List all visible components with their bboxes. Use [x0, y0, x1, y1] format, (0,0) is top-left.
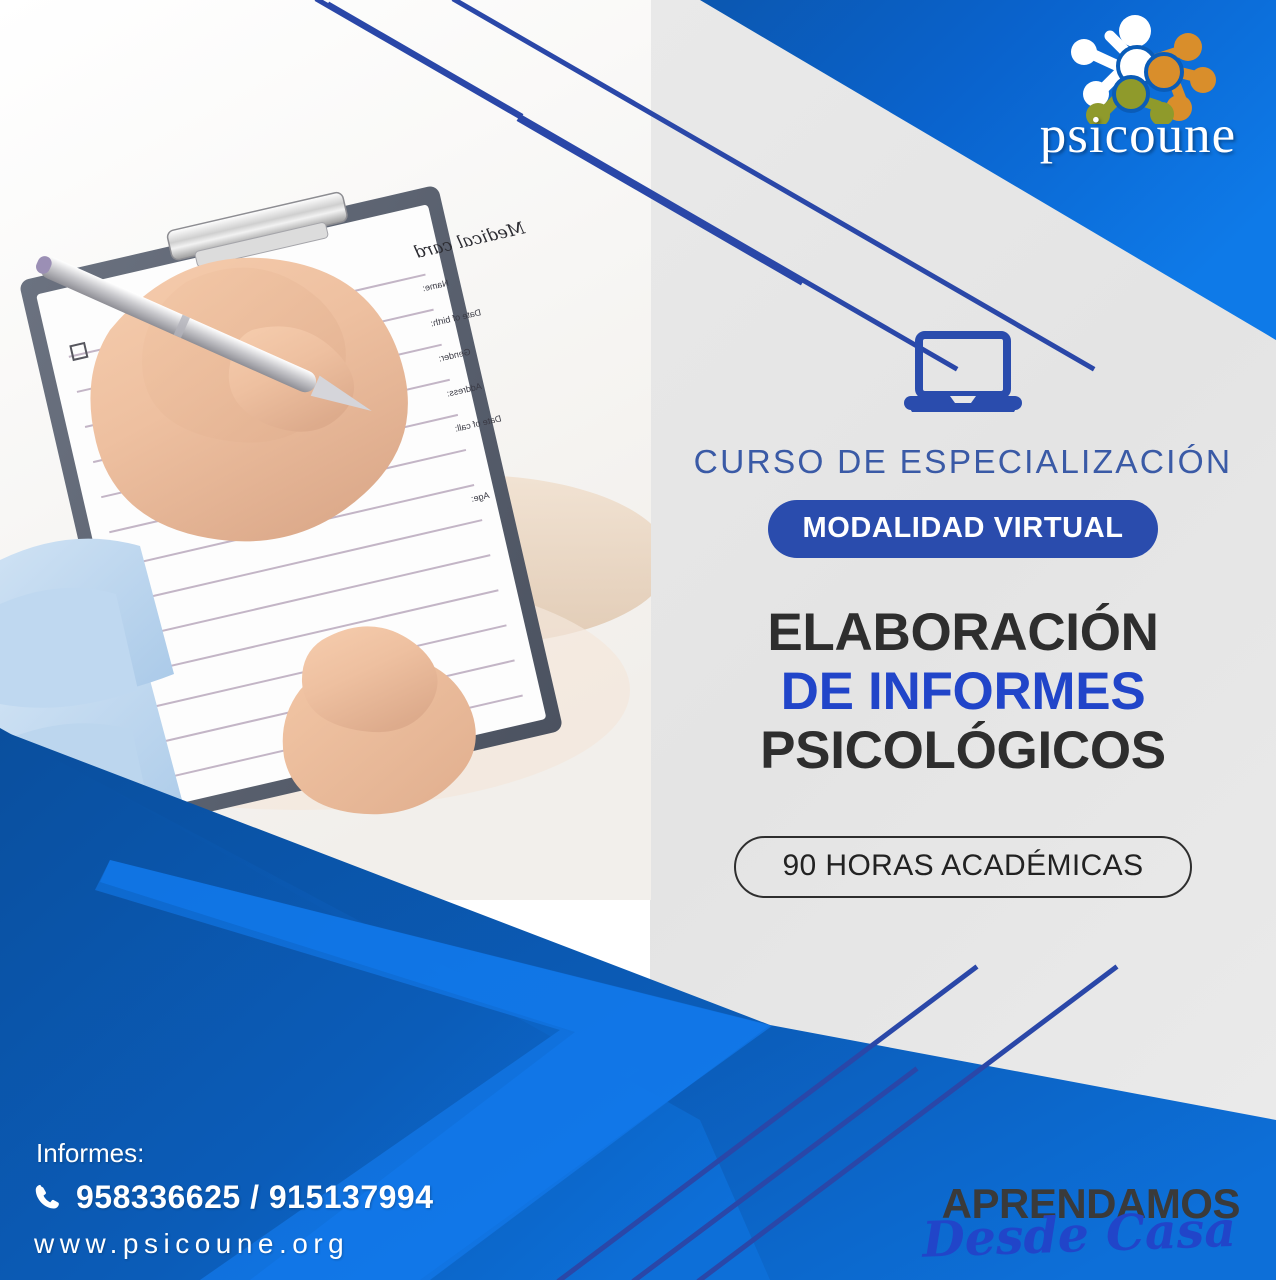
clipboard-photo: Medical card Name: Date of birth: Gender… [0, 0, 651, 900]
course-title: ELABORACIÓN DE INFORMES PSICOLÓGICOS [660, 604, 1266, 780]
course-eyebrow: CURSO DE ESPECIALIZACIÓN [660, 444, 1266, 482]
course-content: CURSO DE ESPECIALIZACIÓN MODALIDAD VIRTU… [660, 330, 1266, 898]
phone-numbers: 958336625 / 915137994 [76, 1179, 434, 1216]
laptop-icon [904, 330, 1022, 418]
phone-icon [32, 1183, 62, 1213]
phone-row[interactable]: 958336625 / 915137994 [32, 1179, 550, 1216]
course-title-line3: PSICOLÓGICOS [660, 722, 1266, 781]
contact-label: Informes: [36, 1138, 550, 1169]
website[interactable]: www.psicoune.org [34, 1228, 550, 1260]
brand-wordmark: psicoune [1022, 109, 1254, 162]
brand-logo[interactable]: psicoune [1022, 14, 1254, 166]
slogan-block: APRENDAMOS Desde Casa [880, 1183, 1240, 1258]
hours-badge: 90 HORAS ACADÉMICAS [734, 836, 1191, 898]
promotional-poster: Medical card Name: Date of birth: Gender… [0, 0, 1276, 1280]
course-title-line2: DE INFORMES [660, 663, 1266, 722]
modality-badge: MODALIDAD VIRTUAL [768, 500, 1157, 558]
course-title-line1: ELABORACIÓN [660, 604, 1266, 663]
slogan-line2: Desde Casa [879, 1207, 1236, 1264]
contact-block: Informes: 958336625 / 915137994 www.psic… [30, 1138, 550, 1260]
